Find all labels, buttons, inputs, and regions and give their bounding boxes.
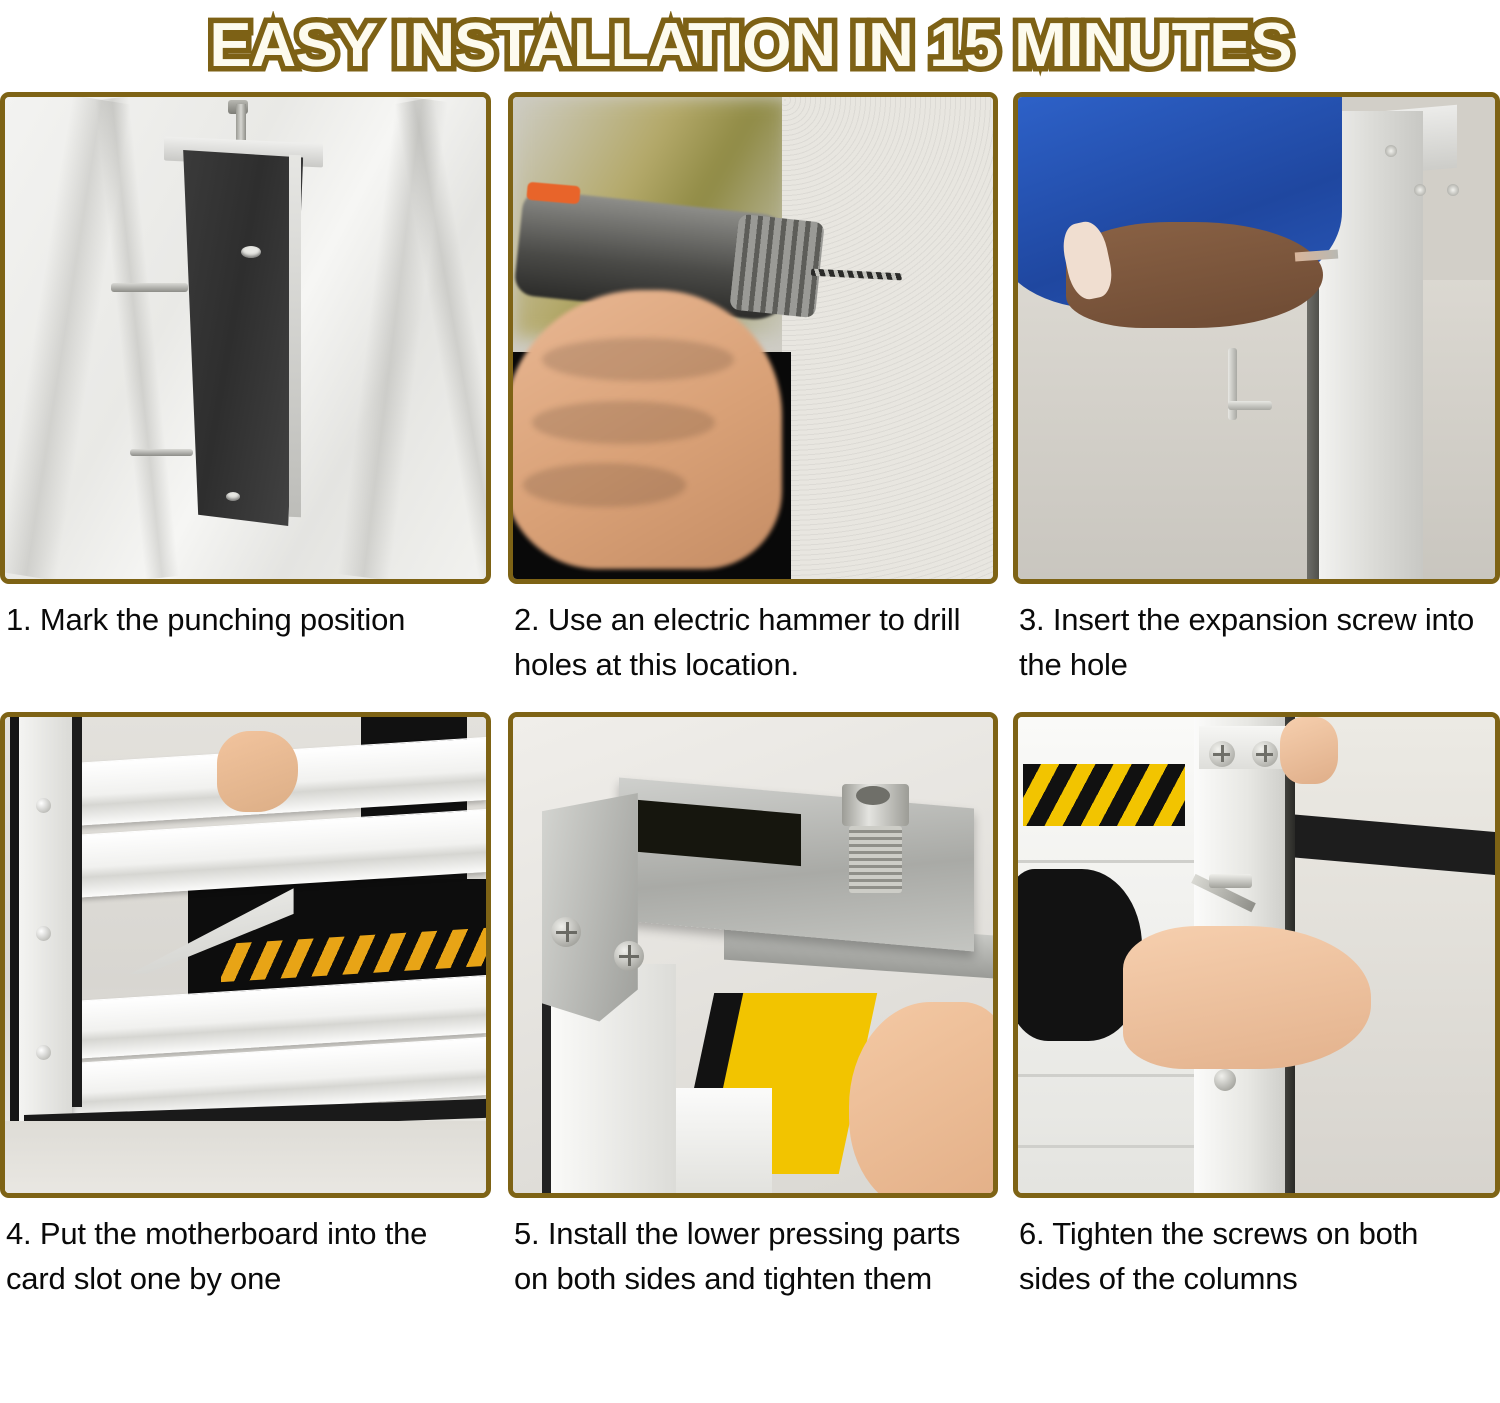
page-title: EASY INSTALLATION IN 15 MINUTES [209,15,1291,77]
step-6-caption: 6. Tighten the screws on both sides of t… [1013,1198,1500,1302]
step-1-caption-cell: 1. Mark the punching position [0,584,491,688]
phillips-screw-icon [1209,741,1235,767]
step-2-image-cell [508,92,998,584]
step-6-caption-cell: 6. Tighten the screws on both sides of t… [1013,1198,1500,1302]
page-header: EASY INSTALLATION IN 15 MINUTES [0,0,1500,92]
step-5-caption: 5. Install the lower pressing parts on b… [508,1198,998,1302]
tighten-screws-illustration [1018,717,1495,1193]
step-6-image-cell [1013,712,1500,1198]
step-4-caption-cell: 4. Put the motherboard into the card slo… [0,1198,491,1302]
installation-steps-grid: 1. Mark the punching position 2. Use an … [0,92,1500,1302]
drilling-wall-illustration [513,97,993,579]
step-4-caption: 4. Put the motherboard into the card slo… [0,1198,491,1302]
step-2-caption-cell: 2. Use an electric hammer to drill holes… [508,584,998,688]
post-on-sheet-illustration [5,97,486,579]
step-3-caption-cell: 3. Insert the expansion screw into the h… [1013,584,1500,688]
step-4-photo [0,712,491,1198]
step-1-photo [0,92,491,584]
step-1-caption: 1. Mark the punching position [0,584,491,643]
step-5-photo [508,712,998,1198]
step-3-image-cell [1013,92,1500,584]
expansion-screw-illustration [1018,97,1495,579]
phillips-screw-icon [551,917,581,947]
step-5-image-cell [508,712,998,1198]
step-3-photo [1013,92,1500,584]
phillips-screw-icon [1252,741,1278,767]
barrier-boards-illustration [5,717,486,1193]
pressing-bracket-illustration [513,717,993,1193]
step-6-photo [1013,712,1500,1198]
step-5-caption-cell: 5. Install the lower pressing parts on b… [508,1198,998,1302]
step-4-image-cell [0,712,491,1198]
phillips-screw-icon [614,941,644,971]
step-3-caption: 3. Insert the expansion screw into the h… [1013,584,1500,688]
step-1-image-cell [0,92,491,584]
step-2-photo [508,92,998,584]
step-2-caption: 2. Use an electric hammer to drill holes… [508,584,998,688]
